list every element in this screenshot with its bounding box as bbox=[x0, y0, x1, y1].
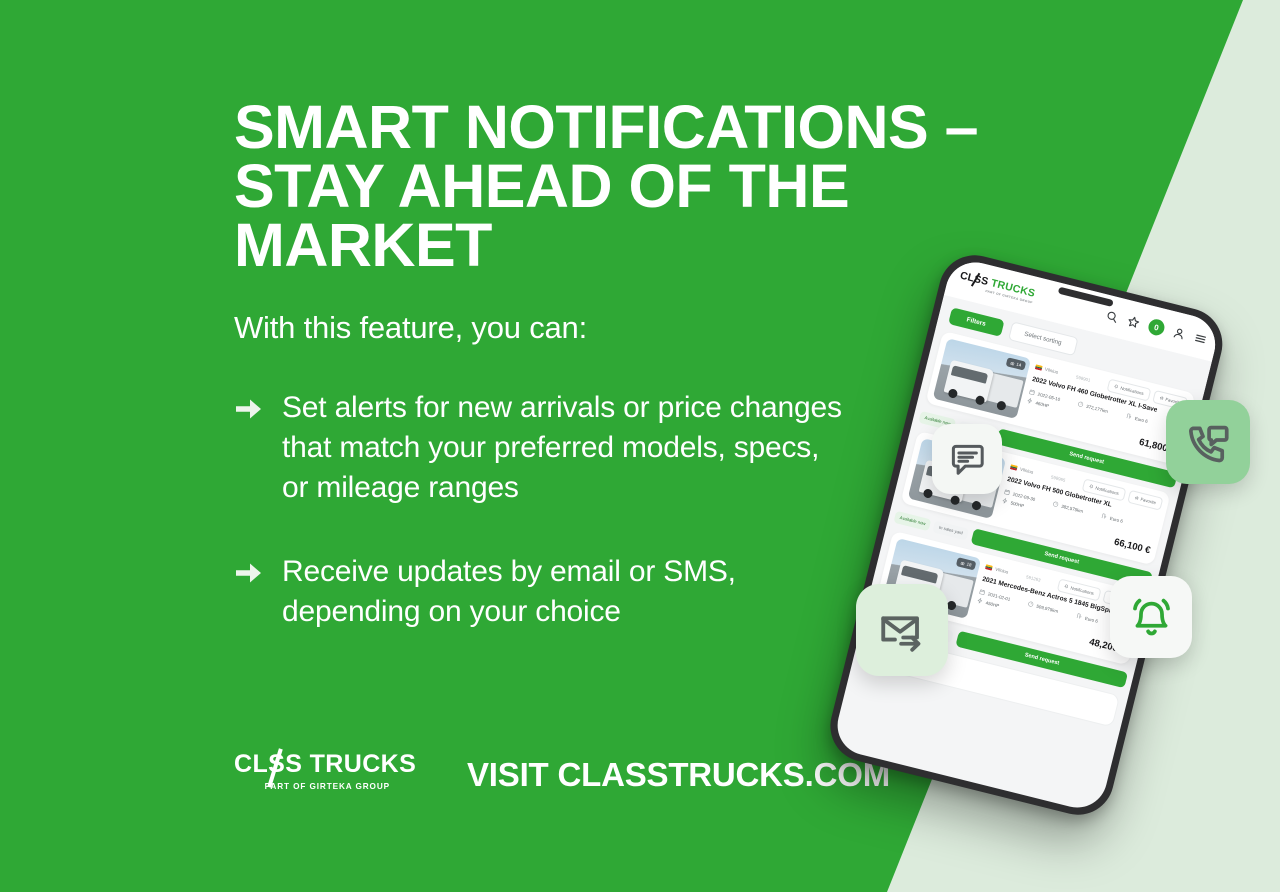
menu-icon[interactable] bbox=[1193, 330, 1209, 346]
alarm-bell-icon bbox=[1110, 576, 1192, 658]
listing-location: Vilnius bbox=[1020, 467, 1034, 475]
star-icon[interactable] bbox=[1126, 314, 1142, 330]
listing-id: 598901 bbox=[1075, 374, 1090, 382]
photo-count-badge: 14 bbox=[1006, 357, 1027, 370]
list-item-label: Receive updates by email or SMS, dependi… bbox=[282, 552, 842, 632]
email-send-icon bbox=[856, 584, 948, 676]
status-badge: Available now bbox=[894, 511, 932, 531]
bullet-list: Set alerts for new arrivals or price cha… bbox=[234, 388, 874, 675]
filters-button[interactable]: Filters bbox=[948, 307, 1004, 336]
lithuania-flag-icon bbox=[1010, 464, 1018, 471]
logo-wordmark: CLSS TRUCKS bbox=[234, 752, 390, 777]
truck-photo[interactable]: 14 bbox=[933, 338, 1031, 419]
listing-id: 591263 bbox=[1026, 574, 1041, 582]
chat-bubble-icon bbox=[932, 424, 1002, 494]
logo-tagline: PART OF GIRTEKA GROUP bbox=[234, 782, 390, 791]
arrow-right-icon bbox=[234, 392, 264, 426]
listing-id: 598965 bbox=[1051, 474, 1066, 482]
list-item: Receive updates by email or SMS, dependi… bbox=[234, 552, 874, 632]
lead-text: With this feature, you can: bbox=[234, 310, 587, 346]
listing-location: Vilnius bbox=[1044, 367, 1058, 375]
search-icon[interactable] bbox=[1104, 308, 1120, 324]
phone-message-icon bbox=[1166, 400, 1250, 484]
photo-count-badge: 18 bbox=[956, 557, 977, 570]
user-icon[interactable] bbox=[1171, 325, 1187, 341]
listing-price: 66,100 € bbox=[1113, 537, 1152, 557]
classtrucks-logo: CLSS TRUCKS PART OF GIRTEKA GROUP bbox=[234, 752, 390, 798]
poster-canvas: SMART NOTIFICATIONS – STAY AHEAD OF THE … bbox=[0, 0, 1280, 892]
status-badge: In sales yard bbox=[933, 521, 969, 540]
list-item-label: Set alerts for new arrivals or price cha… bbox=[282, 388, 842, 508]
phone-screen: CLSS TRUCKS PART OF GIRTEKA GROUP bbox=[831, 256, 1221, 814]
lithuania-flag-icon bbox=[985, 564, 993, 571]
arrow-right-icon bbox=[234, 556, 264, 590]
cart-count-badge[interactable]: 0 bbox=[1147, 318, 1166, 337]
lithuania-flag-icon bbox=[1035, 364, 1043, 371]
list-item: Set alerts for new arrivals or price cha… bbox=[234, 388, 874, 508]
headline-line-1: SMART NOTIFICATIONS – bbox=[234, 93, 978, 161]
phone-frame: CLSS TRUCKS PART OF GIRTEKA GROUP bbox=[823, 248, 1230, 823]
app-logo[interactable]: CLSS TRUCKS PART OF GIRTEKA GROUP bbox=[957, 270, 1036, 305]
listing-location: Vilnius bbox=[995, 567, 1009, 575]
